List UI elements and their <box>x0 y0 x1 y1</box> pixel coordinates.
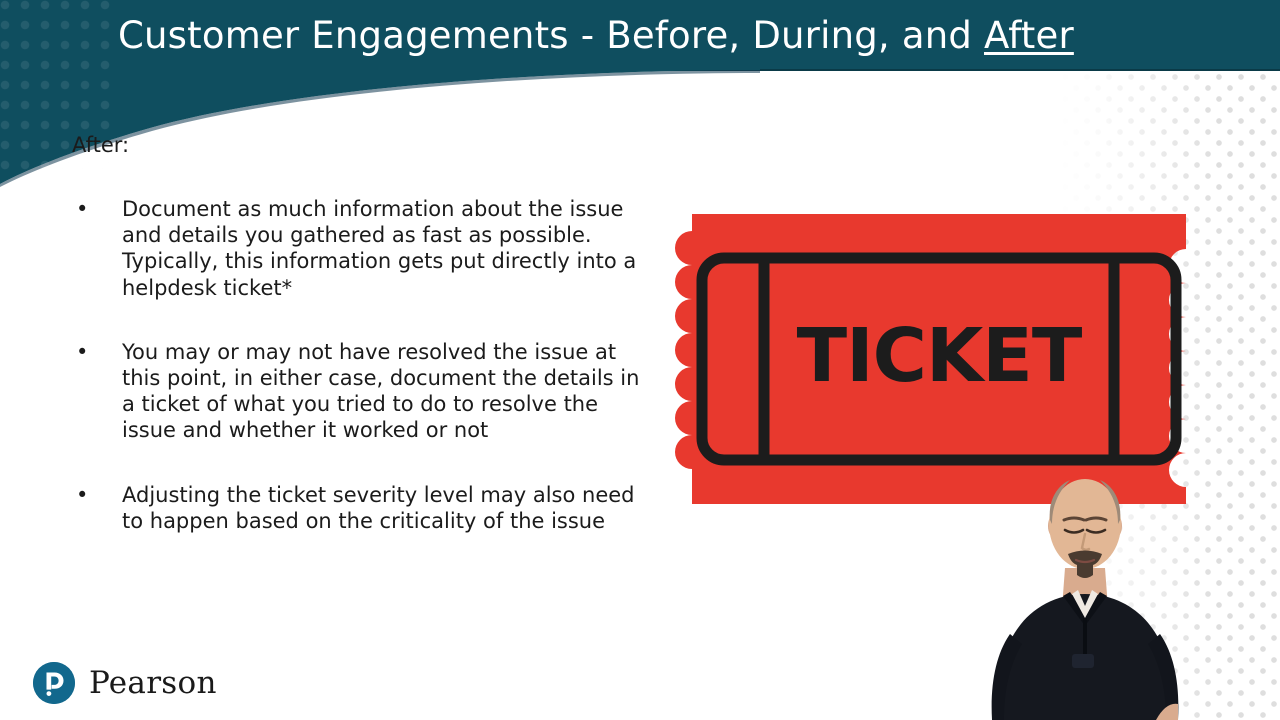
pearson-logo-icon <box>33 662 75 704</box>
list-item: • Adjusting the ticket severity level ma… <box>70 482 640 534</box>
presenter-figure <box>960 468 1210 720</box>
list-item-text: Adjusting the ticket severity level may … <box>122 482 640 534</box>
pearson-logo: Pearson <box>33 662 217 704</box>
bullet-marker-icon: • <box>76 196 88 222</box>
title-text-underlined: After <box>984 14 1074 57</box>
bullet-marker-icon: • <box>76 339 88 365</box>
list-item-text: Document as much information about the i… <box>122 196 640 301</box>
title-text: Customer Engagements - Before, During, a… <box>118 14 984 57</box>
presentation-slide: Customer Engagements - Before, During, a… <box>0 0 1280 720</box>
bullet-list: • Document as much information about the… <box>70 196 640 572</box>
list-item: • Document as much information about the… <box>70 196 640 301</box>
pearson-logo-text: Pearson <box>89 668 217 699</box>
ticket-illustration: TICKET <box>644 214 1234 504</box>
bullet-marker-icon: • <box>76 482 88 508</box>
presenter-video-overlay <box>960 468 1210 720</box>
section-label: After: <box>72 133 129 157</box>
list-item: • You may or may not have resolved the i… <box>70 339 640 444</box>
list-item-text: You may or may not have resolved the iss… <box>122 339 640 444</box>
ticket-icon <box>644 214 1234 504</box>
page-title: Customer Engagements - Before, During, a… <box>118 9 1178 63</box>
